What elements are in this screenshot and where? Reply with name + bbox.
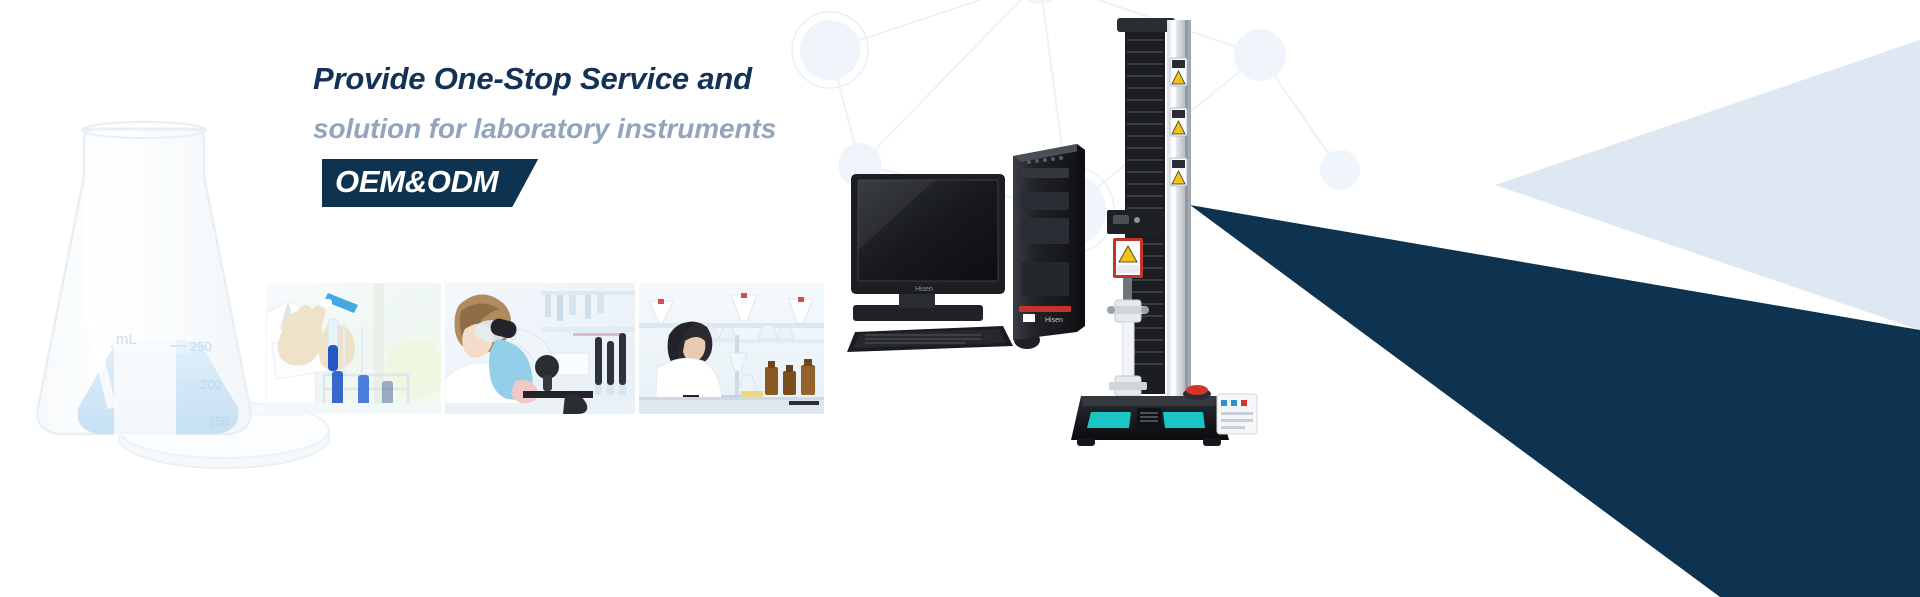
photo-strip [266, 283, 824, 414]
warning-label [1170, 58, 1187, 186]
photo-caption-3: Technicians working at a laboratory benc… [0, 0, 1, 1]
pipetting-test-tubes-image [266, 283, 441, 414]
svg-text:Hisen: Hisen [915, 286, 933, 293]
computer-tower: Hisen [1013, 144, 1085, 340]
microscope-analysis-image [445, 283, 635, 414]
svg-text:250: 250 [190, 339, 212, 354]
light-arrow-shape [1280, 0, 1920, 597]
photo-caption-1: Scientist in lab coat and gloves pipetti… [0, 0, 1, 1]
oem-odm-badge: OEM&ODM [322, 159, 538, 207]
photo-card-microscope [445, 283, 635, 414]
photo-card-benchwork [639, 283, 824, 414]
product-list-tower: PC Tower [0, 0, 1, 1]
dark-arrow-shape [1160, 0, 1920, 597]
keyboard [847, 326, 1013, 352]
laboratory-benchwork-image [639, 283, 824, 414]
promo-banner: 250 200 150 mL Provide One-Stop Service … [0, 0, 1920, 597]
photo-caption-2: Female researcher looking through a micr… [0, 0, 1, 1]
universal-testing-machine [1071, 18, 1257, 446]
svg-text:Hisen: Hisen [1045, 317, 1063, 324]
product-list-testing-machine: Universal Testing Machine [0, 0, 1, 1]
product-list-keyboard: Keyboard [0, 0, 1, 1]
photo-card-pipetting [266, 283, 441, 414]
svg-text:200: 200 [200, 377, 222, 392]
headline-block: Provide One-Stop Service and solution fo… [313, 57, 953, 207]
svg-text:150: 150 [208, 414, 230, 429]
headline-line-1: Provide One-Stop Service and [313, 57, 953, 101]
product-list-monitor: Monitor [0, 0, 1, 1]
mouse [1014, 331, 1040, 349]
headline-line-2: solution for laboratory instruments [313, 107, 953, 151]
svg-text:mL: mL [116, 331, 137, 348]
